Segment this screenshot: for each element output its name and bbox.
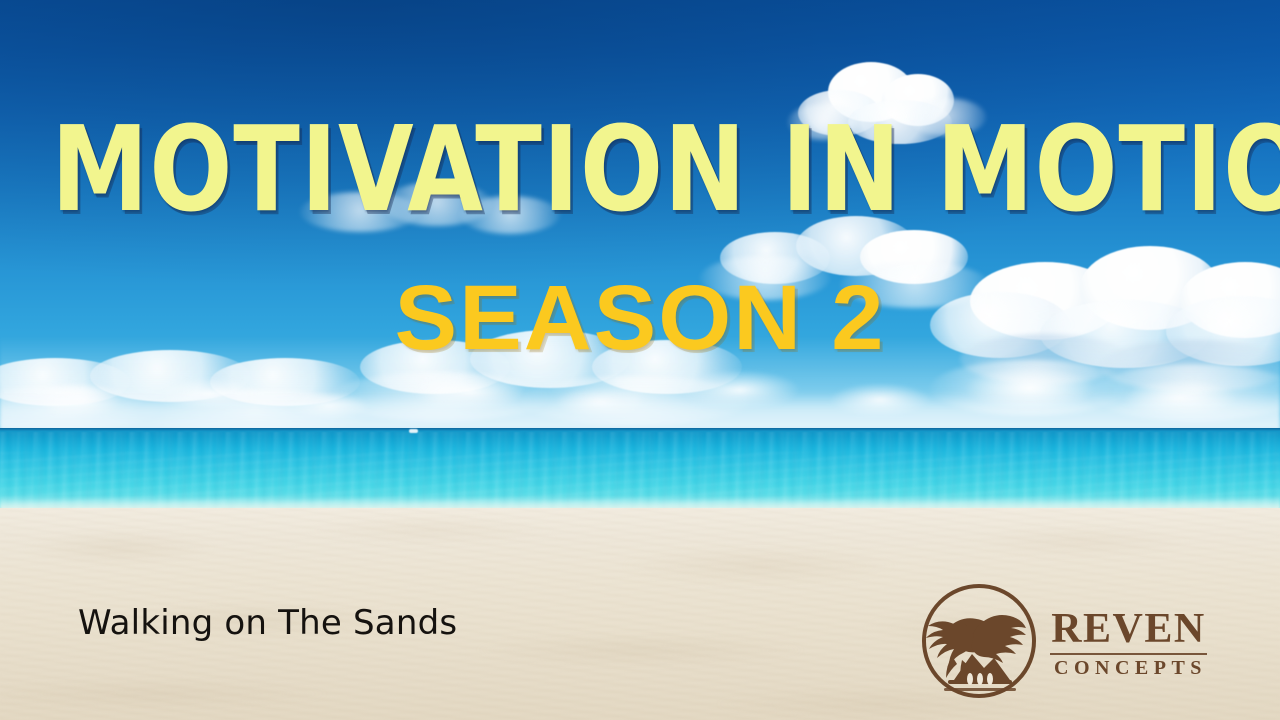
brand-logo: REVEN CONCEPTS (918, 578, 1218, 704)
brand-name-primary: REVEN (1050, 608, 1207, 650)
brand-name-secondary: CONCEPTS (1050, 658, 1207, 678)
episode-caption: Walking on The Sands (78, 605, 457, 642)
slide-canvas: MOTIVATION IN MOTION SEASON 2 Walking on… (0, 0, 1280, 720)
horizon-line (0, 428, 1280, 431)
brand-wordmark: REVEN CONCEPTS (1050, 604, 1207, 678)
season-title: SEASON 2 (0, 272, 1280, 364)
eagle-over-mountains-icon (918, 580, 1040, 702)
distant-boat (409, 429, 418, 433)
horizon-haze (0, 392, 1280, 430)
brand-divider-rule (1050, 653, 1207, 655)
main-title: MOTIVATION IN MOTION (51, 110, 1229, 228)
